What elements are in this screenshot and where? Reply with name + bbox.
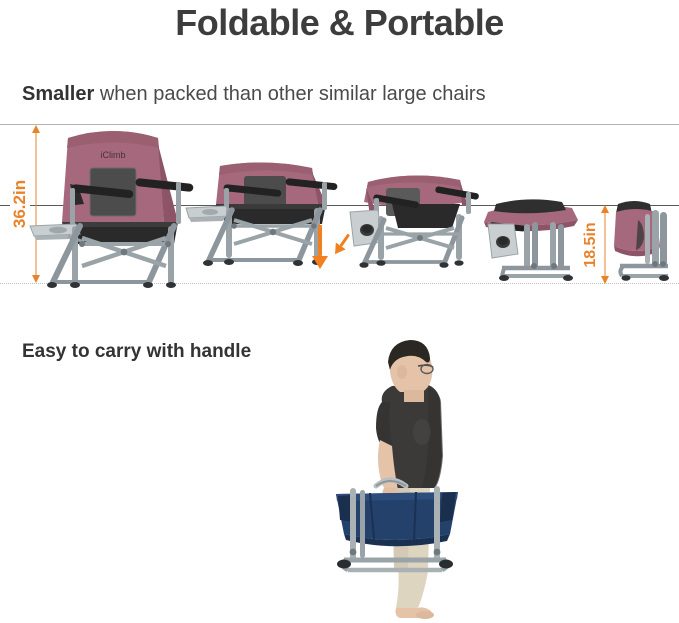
smaller-subheading: Smaller when packed than other similar l…: [22, 83, 486, 106]
smaller-rest: when packed than other similar large cha…: [94, 83, 485, 105]
top-guide-line: [0, 124, 679, 125]
dimension-label-open: 36.2in: [10, 178, 30, 230]
page-title: Foldable & Portable: [0, 2, 679, 44]
smaller-emphasis: Smaller: [22, 83, 94, 105]
chair-folding-2: [340, 168, 490, 293]
chair-folded: [614, 198, 676, 288]
arrow-head-up-icon: [601, 205, 609, 213]
chair-folding-3: [474, 194, 586, 289]
arrow-head-down-icon: [601, 276, 609, 284]
dimension-line: [605, 206, 606, 283]
chair-open: iClimb: [28, 126, 198, 291]
fold-direction-arrow-icon: [310, 225, 330, 269]
arrow-stem: [318, 225, 322, 256]
arrow-tip: [312, 256, 328, 269]
chair-foot: [337, 560, 351, 569]
carry-heading: Easy to carry with handle: [22, 341, 251, 363]
person-carrying-chair: [330, 336, 500, 621]
brand-logo-text: iClimb: [100, 150, 125, 160]
infographic-page: Foldable & Portable Smaller when packed …: [0, 0, 679, 623]
